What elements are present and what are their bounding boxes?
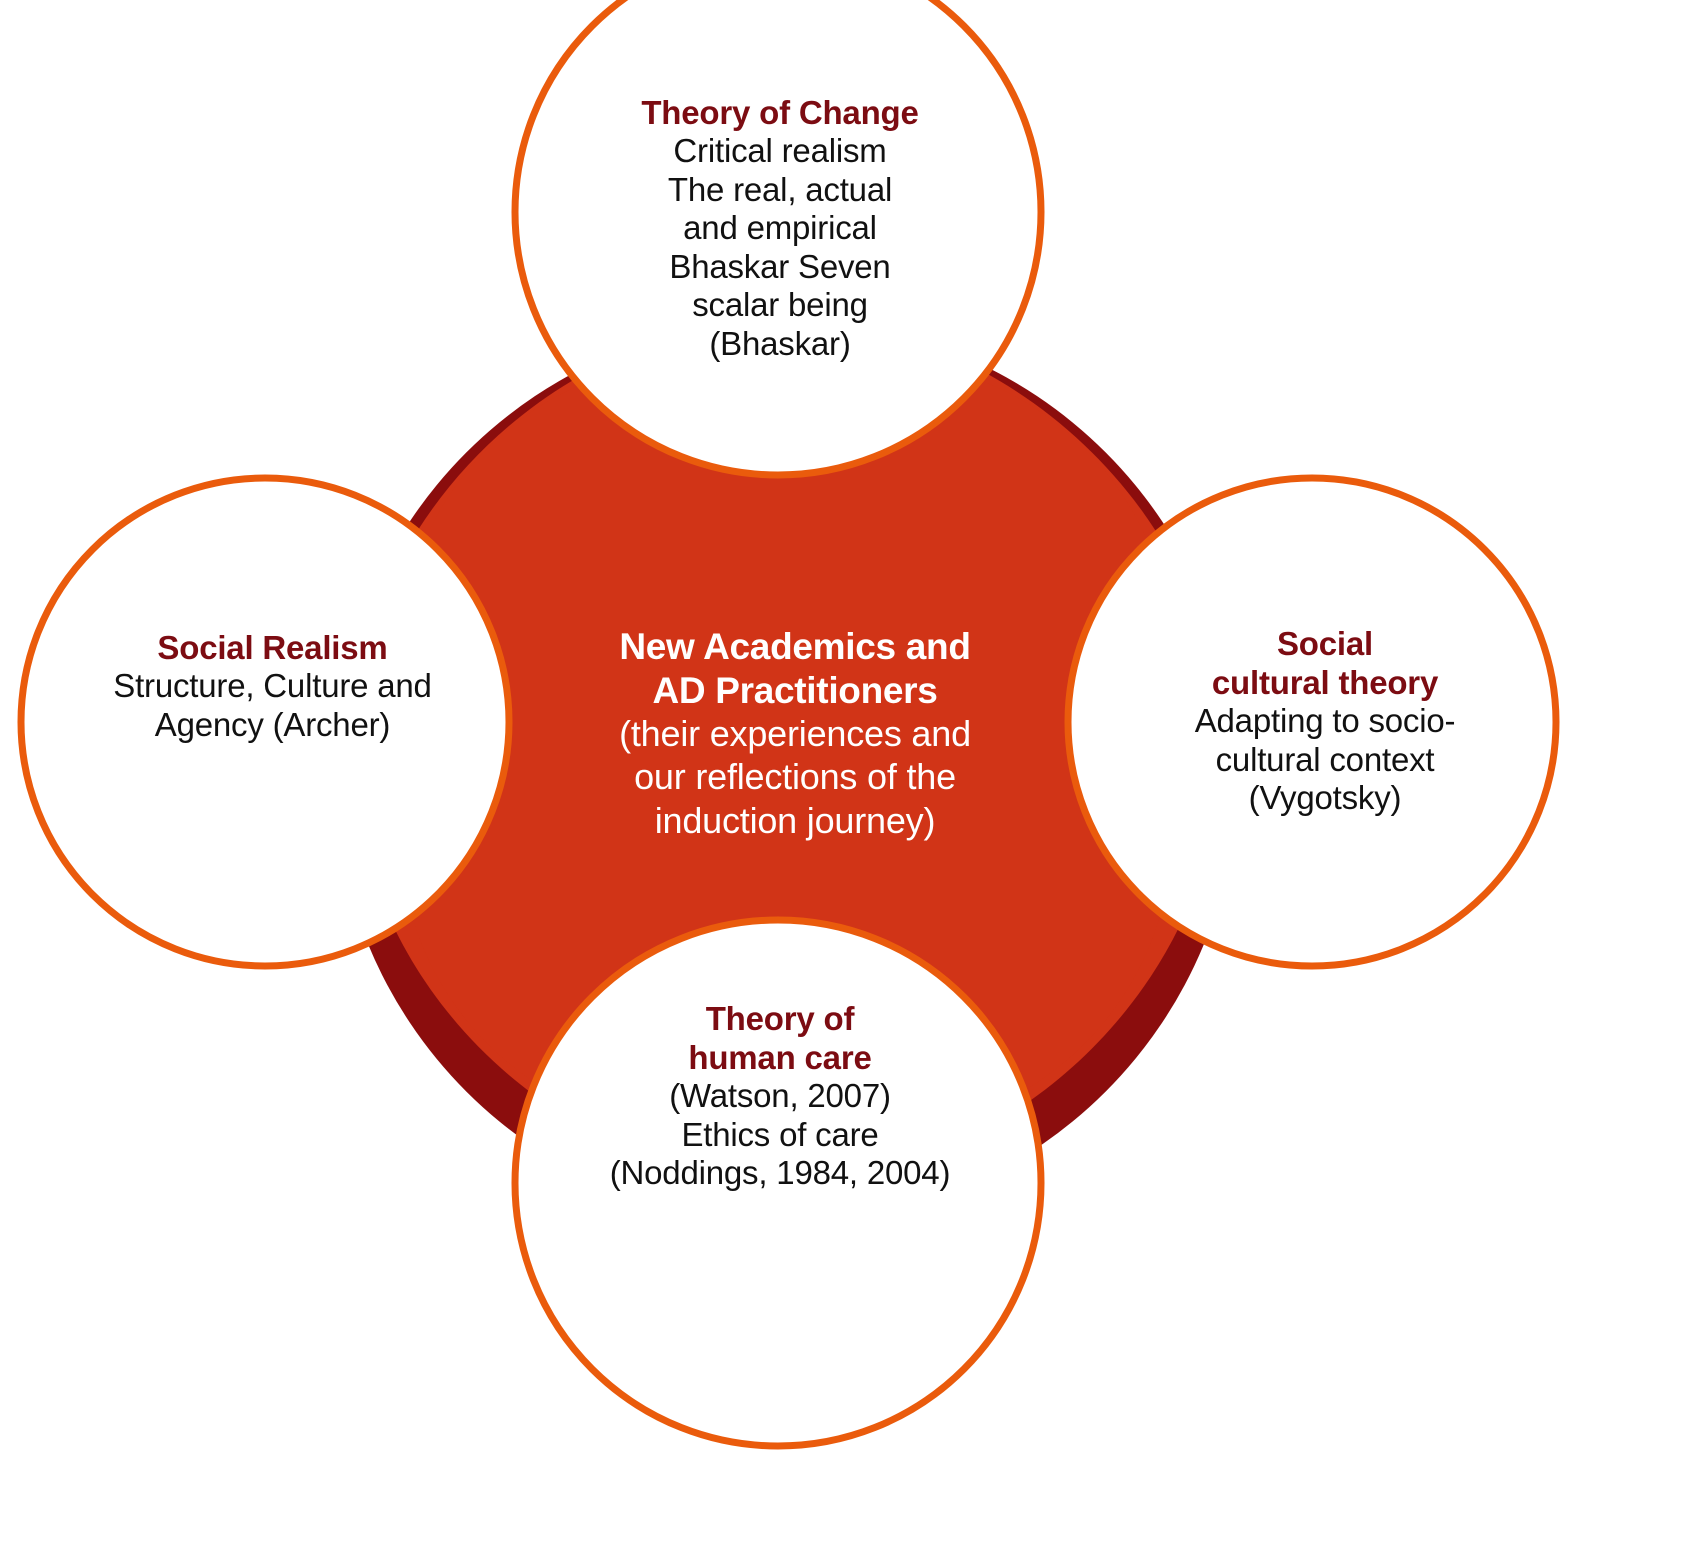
node-right-text: Social cultural theory Adapting to socio… xyxy=(1125,625,1525,818)
node-right-line-2: cultural context xyxy=(1125,741,1525,780)
node-bottom-line-1: (Watson, 2007) xyxy=(545,1077,1015,1116)
node-bottom-title-line-1: Theory of xyxy=(545,1000,1015,1039)
node-top-line-5: scalar being xyxy=(545,286,1015,325)
node-right-line-1: Adapting to socio- xyxy=(1125,702,1525,741)
node-top-text: Theory of Change Critical realism The re… xyxy=(545,95,1015,364)
node-right-title-line-2: cultural theory xyxy=(1125,664,1525,703)
center-body-line-2: our reflections of the xyxy=(560,756,1030,798)
node-left-text: Social Realism Structure, Culture and Ag… xyxy=(45,630,500,744)
center-title-line-2: AD Practitioners xyxy=(560,669,1030,713)
diagram-canvas: Theory of Change Critical realism The re… xyxy=(0,0,1704,1547)
node-right-line-3: (Vygotsky) xyxy=(1125,779,1525,818)
center-title-line-1: New Academics and xyxy=(560,625,1030,669)
center-body-line-3: induction journey) xyxy=(560,800,1030,842)
node-bottom-title-line-2: human care xyxy=(545,1039,1015,1078)
node-left-line-1: Structure, Culture and xyxy=(45,667,500,706)
node-left-title: Social Realism xyxy=(45,630,500,667)
node-left-line-2: Agency (Archer) xyxy=(45,706,500,745)
node-bottom-line-2: Ethics of care xyxy=(545,1116,1015,1155)
node-top-line-2: The real, actual xyxy=(545,171,1015,210)
center-hub-text: New Academics and AD Practitioners (thei… xyxy=(560,625,1030,842)
node-top-line-3: and empirical xyxy=(545,209,1015,248)
node-top-line-6: (Bhaskar) xyxy=(545,325,1015,364)
node-bottom-line-3: (Noddings, 1984, 2004) xyxy=(545,1154,1015,1193)
center-body-line-1: (their experiences and xyxy=(560,713,1030,755)
node-top-line-4: Bhaskar Seven xyxy=(545,248,1015,287)
node-bottom-text: Theory of human care (Watson, 2007) Ethi… xyxy=(545,1000,1015,1193)
node-right-title-line-1: Social xyxy=(1125,625,1525,664)
node-top-title: Theory of Change xyxy=(545,95,1015,132)
node-top-line-1: Critical realism xyxy=(545,132,1015,171)
